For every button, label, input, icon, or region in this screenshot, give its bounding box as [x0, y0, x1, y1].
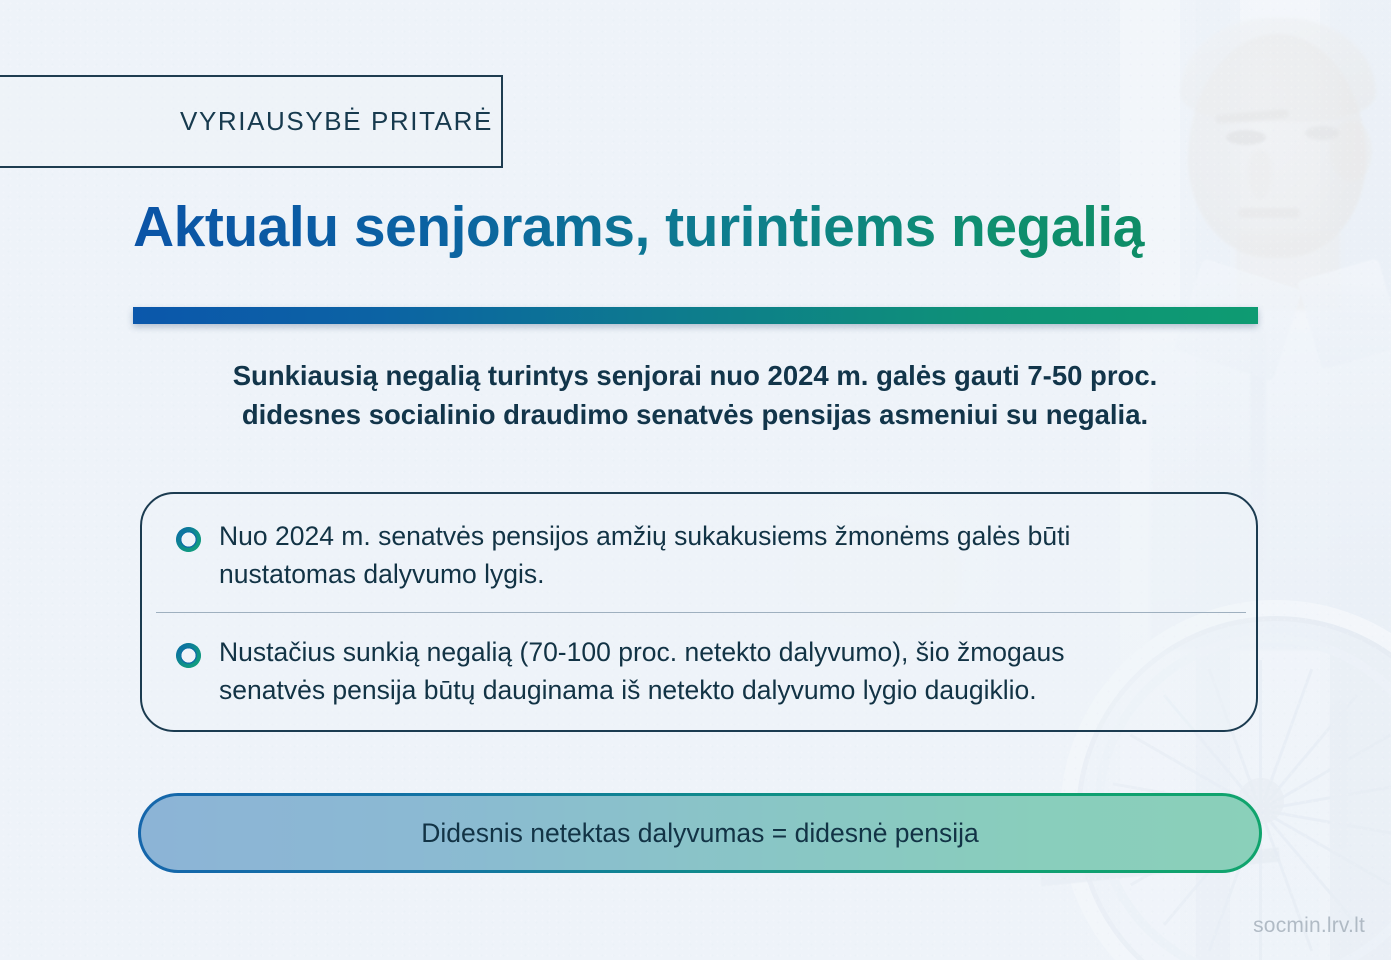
bullet-line-2: senatvės pensija būtų dauginama iš netek…	[219, 675, 1037, 705]
ring-bullet-icon	[176, 643, 201, 668]
site-watermark: socmin.lrv.lt	[1253, 914, 1365, 938]
subtitle-line-1: Sunkiausią negalią turintys senjorai nuo…	[115, 356, 1275, 395]
subtitle: Sunkiausią negalią turintys senjorai nuo…	[115, 356, 1275, 434]
page-title: Aktualu senjorams, turintiems negalią	[133, 196, 1293, 260]
bullet-line-2: nustatomas dalyvumo lygis.	[219, 559, 545, 589]
bullet-item: Nuo 2024 m. senatvės pensijos amžių suka…	[142, 518, 1256, 593]
bullet-text: Nustačius sunkią negalią (70-100 proc. n…	[219, 634, 1065, 709]
callout-text: Didesnis netektas dalyvumas = didesnė pe…	[421, 818, 979, 849]
infographic-canvas: VYRIAUSYBĖ PRITARĖ Aktualu senjorams, tu…	[0, 0, 1391, 960]
bullet-separator	[156, 612, 1246, 613]
bullet-text: Nuo 2024 m. senatvės pensijos amžių suka…	[219, 518, 1070, 593]
bullet-line-1: Nuo 2024 m. senatvės pensijos amžių suka…	[219, 521, 1070, 551]
ring-bullet-icon	[176, 527, 201, 552]
callout-inner: Didesnis netektas dalyvumas = didesnė pe…	[141, 796, 1259, 870]
bullet-line-1: Nustačius sunkią negalią (70-100 proc. n…	[219, 637, 1065, 667]
bullet-item: Nustačius sunkią negalią (70-100 proc. n…	[142, 634, 1256, 709]
approval-tag-label: VYRIAUSYBĖ PRITARĖ	[180, 75, 503, 168]
gradient-divider	[133, 307, 1258, 324]
bullet-card: Nuo 2024 m. senatvės pensijos amžių suka…	[140, 492, 1258, 732]
callout-box: Didesnis netektas dalyvumas = didesnė pe…	[138, 793, 1262, 873]
subtitle-line-2: didesnes socialinio draudimo senatvės pe…	[115, 395, 1275, 434]
gradient-divider-bar	[133, 307, 1258, 324]
